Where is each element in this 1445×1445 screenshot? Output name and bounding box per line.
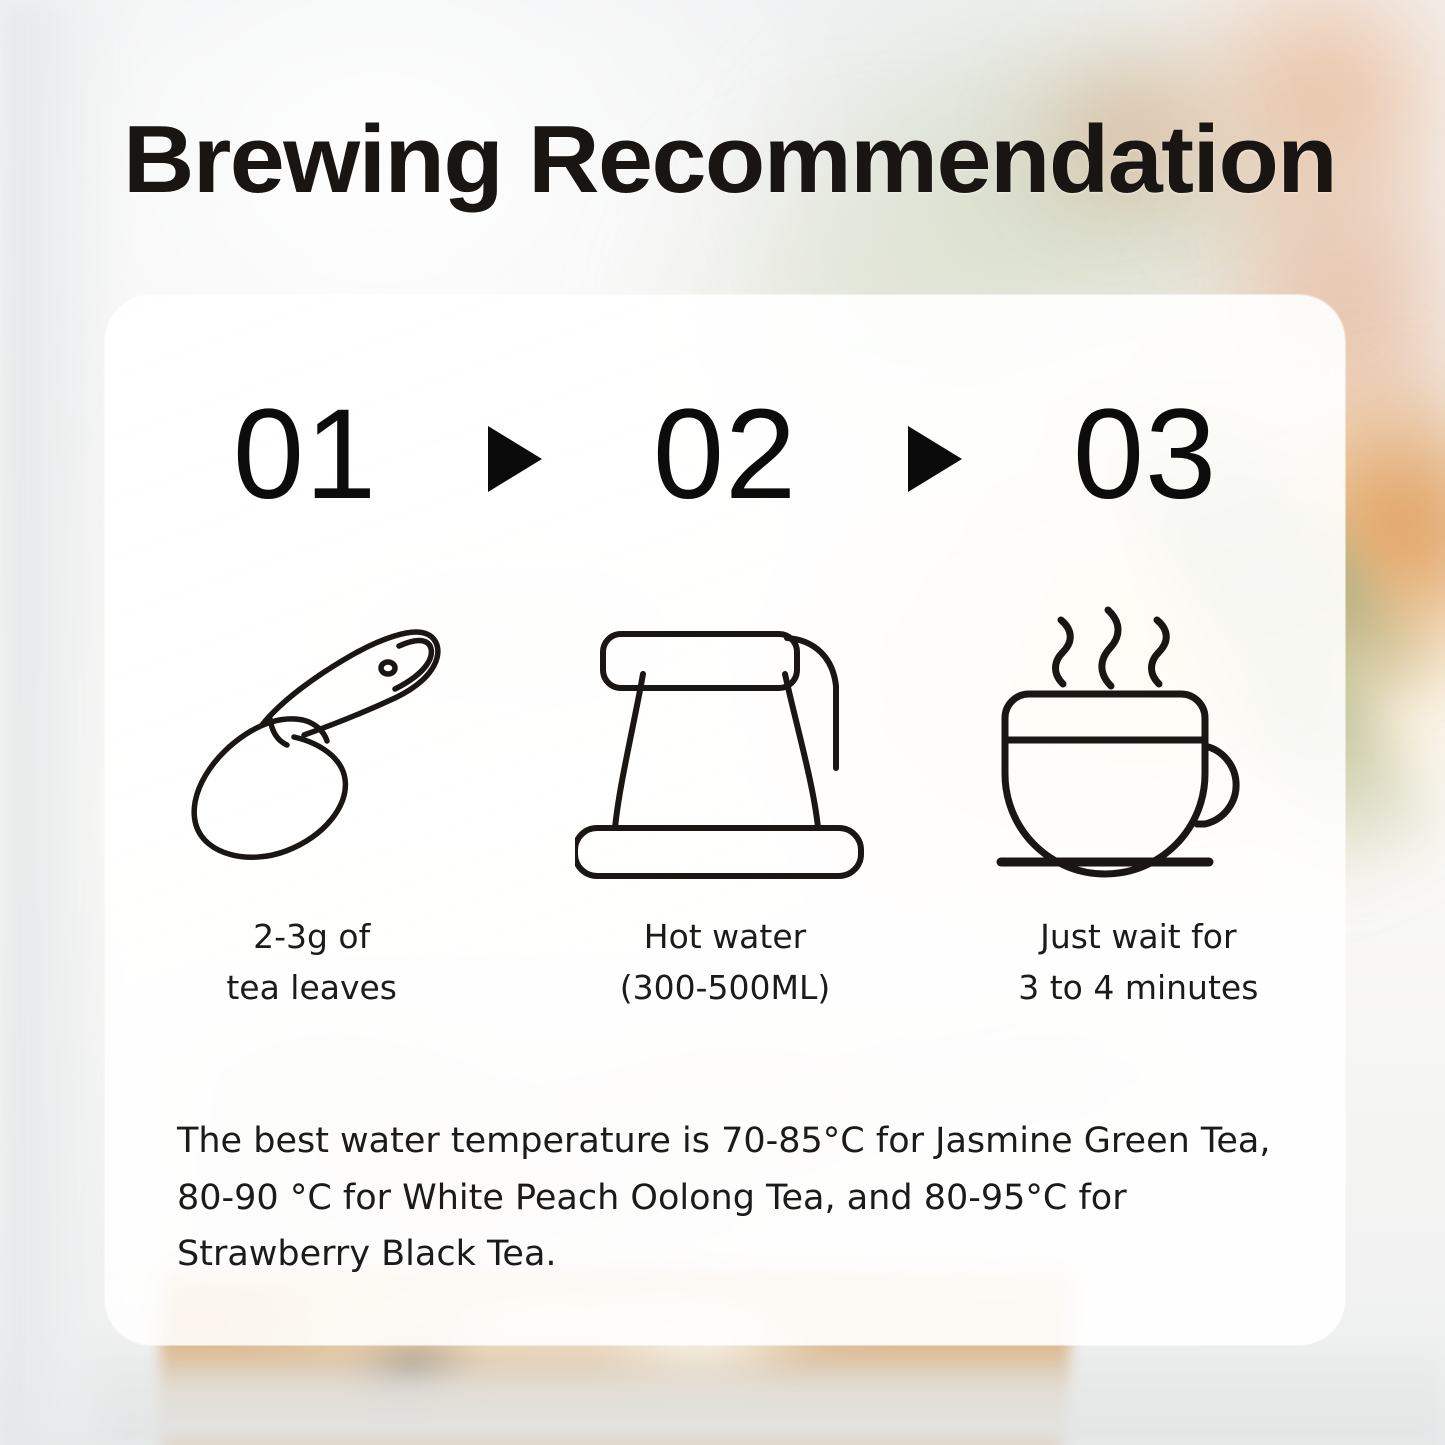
kettle-icon [575,610,875,880]
brewing-steps-card: 01 02 03 [105,295,1345,1345]
step-separator-2 [843,418,1028,492]
step-3: Just wait for 3 to 4 minutes [932,595,1345,1013]
steam-line-3 [1152,620,1167,684]
teacup-with-steam-icon [993,600,1283,890]
background-left-wall [0,0,120,1445]
step-2-caption: Hot water (300-500ML) [620,911,831,1013]
step-3-caption-line-1: Just wait for [1018,911,1258,962]
step-3-caption-line-2: 3 to 4 minutes [1018,962,1258,1013]
step-3-icon-box [993,595,1283,895]
step-1-caption-line-2: tea leaves [226,962,397,1013]
step-3-caption: Just wait for 3 to 4 minutes [1018,911,1258,1013]
step-number-02: 02 [608,391,843,519]
step-2-caption-line-1: Hot water [620,911,831,962]
step-icons-row: 2-3g of tea leaves [105,595,1345,1013]
background-floor-shadow [0,1330,1445,1445]
page-title: Brewing Recommendation [123,112,1400,208]
step-2: Hot water (300-500ML) [518,595,931,1013]
step-1-caption: 2-3g of tea leaves [226,911,397,1013]
step-1-icon-box [152,595,472,895]
step-separator-1 [423,418,608,492]
step-1: 2-3g of tea leaves [105,595,518,1013]
play-triangle-right-icon [488,426,542,492]
step-number-03: 03 [1028,391,1263,519]
step-2-icon-box [575,595,875,895]
steam-line-1 [1056,620,1071,684]
steam-line-2 [1102,610,1118,686]
infographic-root: Brewing Recommendation 01 02 03 [0,0,1445,1445]
step-number-01: 01 [188,391,423,519]
play-triangle-right-icon [908,426,962,492]
step-2-caption-line-2: (300-500ML) [620,962,831,1013]
step-1-caption-line-1: 2-3g of [226,911,397,962]
spoon-icon [152,615,472,875]
brewing-note: The best water temperature is 70-85°C fo… [177,1113,1282,1283]
step-numbers-row: 01 02 03 [105,391,1345,519]
